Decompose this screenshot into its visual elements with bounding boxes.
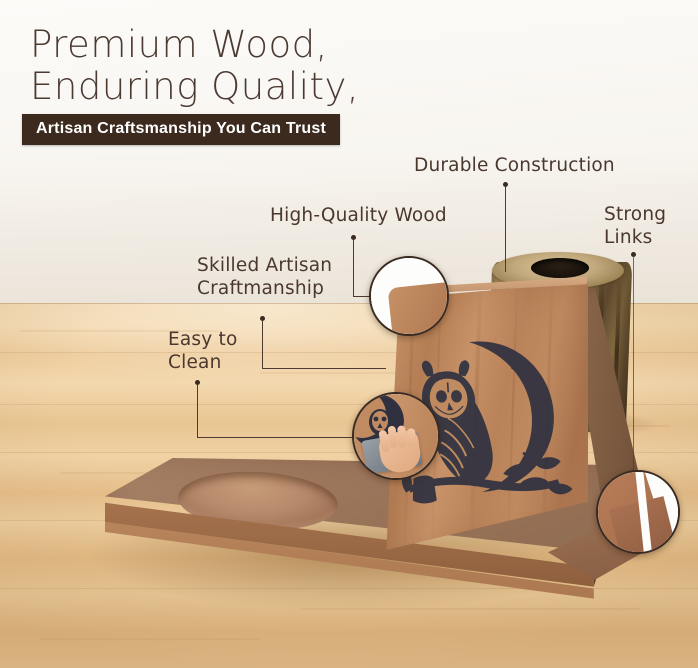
infographic-canvas: Premium Wood, Enduring Quality, Artisan … — [0, 0, 698, 668]
leader-line-durable — [505, 186, 506, 272]
leader-line-skilled-horizontal — [262, 368, 386, 369]
callout-label-durable-construction: Durable Construction — [414, 154, 615, 177]
magnifier-skilled-craftmanship — [369, 256, 449, 336]
log-cavity — [531, 258, 589, 278]
tagline-badge: Artisan Craftsmanship You Can Trust — [22, 114, 340, 145]
page-title: Premium Wood, Enduring Quality, — [30, 24, 510, 108]
callout-label-skilled-artisan-craftmanship: Skilled Artisan Craftmanship — [197, 254, 332, 300]
magnifier-easy-to-clean — [352, 392, 440, 480]
callout-label-easy-to-clean: Easy to Clean — [168, 328, 237, 374]
leader-line-easy-clean-vertical — [197, 384, 198, 438]
leader-line-strong-links — [633, 256, 634, 480]
callout-label-high-quality-wood: High-Quality Wood — [270, 204, 447, 227]
callout-label-strong-links: Strong Links — [604, 203, 666, 249]
magnified-board-corner — [388, 280, 449, 336]
leader-line-easy-clean-horizontal — [197, 437, 363, 438]
leader-line-skilled-vertical — [262, 320, 263, 368]
headline-line-2: Enduring Quality, — [30, 66, 510, 108]
leader-line-high-quality-vertical — [353, 239, 354, 297]
headline-line-1: Premium Wood, — [30, 23, 328, 66]
magnifier-strong-links — [596, 470, 680, 554]
